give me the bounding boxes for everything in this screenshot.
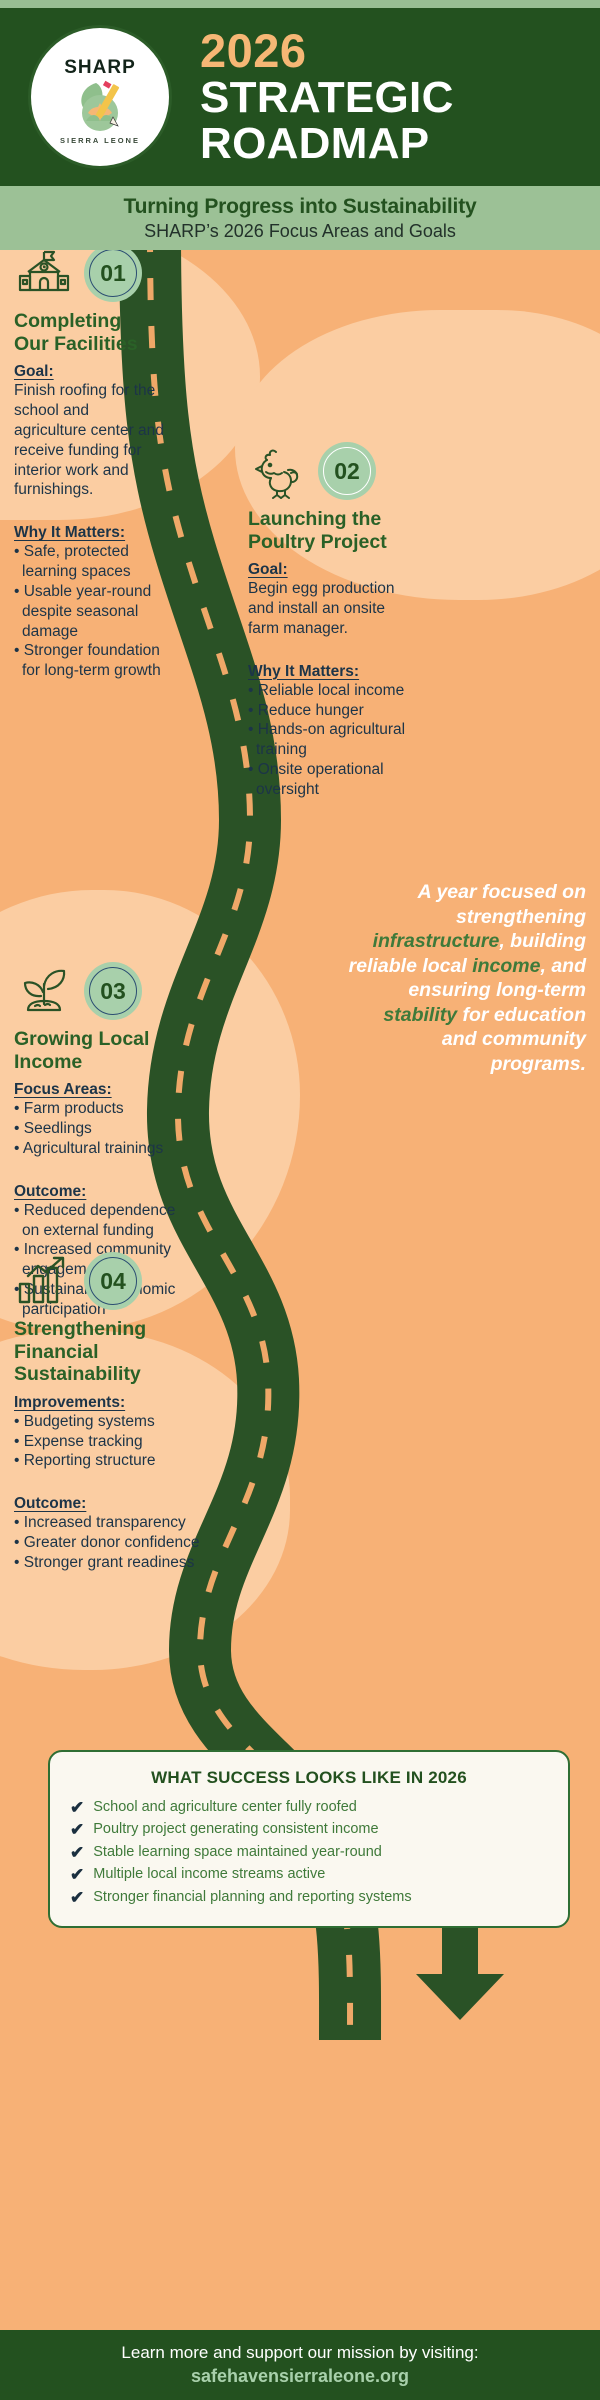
- success-heading: WHAT SUCCESS LOOKS LIKE IN 2026: [70, 1768, 548, 1788]
- check-icon: ✔: [70, 1821, 84, 1838]
- section-04-outcome-list: • Increased transparency• Greater donor …: [14, 1513, 224, 1572]
- section-02-goal-text: Begin egg production and install an onsi…: [248, 579, 408, 638]
- check-icon: ✔: [70, 1799, 84, 1816]
- success-list-item: ✔Multiple local income streams active: [70, 1863, 548, 1885]
- list-item: • Greater donor confidence: [14, 1533, 224, 1553]
- section-02-number-badge: 02: [318, 442, 376, 500]
- top-accent-strip: [0, 0, 600, 8]
- footer: Learn more and support our mission by vi…: [0, 2330, 600, 2400]
- success-item-text: Stable learning space maintained year-ro…: [93, 1841, 382, 1863]
- section-01-goal-text: Finish roofing for the school and agricu…: [14, 381, 164, 500]
- subtitle-line2: SHARP’s 2026 Focus Areas and Goals: [144, 221, 456, 242]
- header: SHARP SIERRA LEONE: [0, 8, 600, 186]
- section-01-number-badge: 01: [84, 250, 142, 302]
- list-item: • Onsite operational oversight: [248, 760, 408, 800]
- section-04-improvements-label: Improvements:: [14, 1394, 125, 1412]
- section-title-line: Our Facilities: [14, 333, 164, 356]
- seedling-icon: [14, 960, 74, 1020]
- section-03-title: Growing LocalIncome: [14, 1028, 194, 1073]
- quote-highlight: infrastructure: [373, 930, 500, 952]
- check-icon: ✔: [70, 1889, 84, 1906]
- success-list-item: ✔Poultry project generating consistent i…: [70, 1818, 548, 1840]
- header-title-line2: ROADMAP: [200, 121, 582, 167]
- list-item: • Expense tracking: [14, 1432, 224, 1452]
- success-box: WHAT SUCCESS LOOKS LIKE IN 2026 ✔School …: [48, 1750, 570, 1928]
- list-item: • Agricultural trainings: [14, 1139, 194, 1159]
- section-01-why-list: • Safe, protected learning spaces• Usabl…: [14, 542, 164, 681]
- quote-text: for education and community programs.: [442, 1004, 586, 1075]
- highlight-quote: A year focused on strengthening infrastr…: [348, 880, 586, 1077]
- success-list-item: ✔School and agriculture center fully roo…: [70, 1796, 548, 1818]
- success-list-item: ✔Stable learning space maintained year-r…: [70, 1841, 548, 1863]
- section-02-number: 02: [334, 458, 360, 485]
- success-item-text: Stronger financial planning and reportin…: [93, 1886, 411, 1908]
- section-03-head: 03: [14, 960, 194, 1020]
- school-icon: [14, 250, 74, 302]
- success-list-item: ✔Stronger financial planning and reporti…: [70, 1886, 548, 1908]
- section-02-head: 02: [248, 440, 408, 500]
- section-02-why-list: • Reliable local income• Reduce hunger• …: [248, 681, 408, 800]
- section-02-goal-label: Goal:: [248, 561, 288, 579]
- section-04-improvements-list: • Budgeting systems• Expense tracking• R…: [14, 1412, 224, 1471]
- section-03-number: 03: [100, 978, 126, 1005]
- quote-highlight: income: [472, 955, 540, 977]
- section-01-why-label: Why It Matters:: [14, 524, 125, 542]
- footer-cta-text: Learn more and support our mission by vi…: [121, 2343, 478, 2363]
- list-item: • Increased transparency: [14, 1513, 224, 1533]
- list-item: • Reporting structure: [14, 1451, 224, 1471]
- section-03-focus-label: Focus Areas:: [14, 1081, 112, 1099]
- list-item: • Safe, protected learning spaces: [14, 542, 164, 582]
- section-04-outcome-label: Outcome:: [14, 1495, 86, 1513]
- list-item: • Farm products: [14, 1099, 194, 1119]
- section-title-line: Growing Local: [14, 1028, 194, 1051]
- logo-subtext: SIERRA LEONE: [60, 136, 140, 145]
- section-title-line: Launching the: [248, 508, 408, 531]
- section-title-line: Income: [14, 1051, 194, 1074]
- subtitle-band: Turning Progress into Sustainability SHA…: [0, 186, 600, 250]
- growth-chart-icon: [14, 1250, 74, 1310]
- list-item: • Stronger foundation for long-term grow…: [14, 641, 164, 681]
- section-01-title: CompletingOur Facilities: [14, 310, 164, 355]
- section-03-outcome-label: Outcome:: [14, 1183, 86, 1201]
- chicken-icon: [248, 440, 308, 500]
- list-item: • Budgeting systems: [14, 1412, 224, 1432]
- list-item: • Reliable local income: [248, 681, 408, 701]
- footer-website-link[interactable]: safehavensierraleone.org: [191, 2366, 409, 2387]
- section-title-line: Sustainability: [14, 1363, 224, 1386]
- infographic-poster: SHARP SIERRA LEONE: [0, 0, 600, 2400]
- logo-wordmark: SHARP: [64, 57, 136, 79]
- success-item-text: School and agriculture center fully roof…: [93, 1796, 357, 1818]
- section-03-number-badge: 03: [84, 962, 142, 1020]
- section-03-focus-list: • Farm products• Seedlings• Agricultural…: [14, 1099, 194, 1158]
- subtitle-line1: Turning Progress into Sustainability: [124, 195, 477, 219]
- quote-highlight: stability: [383, 1004, 457, 1026]
- section-04-head: 04: [14, 1250, 224, 1310]
- success-item-text: Multiple local income streams active: [93, 1863, 325, 1885]
- list-item: • Reduce hunger: [248, 701, 408, 721]
- section-04-title: Strengthening FinancialSustainability: [14, 1318, 224, 1386]
- section-01-goal-label: Goal:: [14, 363, 54, 381]
- section-01-number: 01: [100, 260, 126, 287]
- section-02-why-label: Why It Matters:: [248, 663, 359, 681]
- header-title-line1: STRATEGIC: [200, 75, 582, 121]
- check-icon: ✔: [70, 1866, 84, 1883]
- sharp-logo: SHARP SIERRA LEONE: [31, 28, 169, 166]
- down-arrow-icon: [400, 1922, 520, 2022]
- list-item: • Reduced dependence on external funding: [14, 1201, 194, 1241]
- section-02-title: Launching thePoultry Project: [248, 508, 408, 553]
- section-title-line: Poultry Project: [248, 531, 408, 554]
- list-item: • Hands-on agricultural training: [248, 720, 408, 760]
- header-year: 2026: [200, 27, 582, 75]
- section-04: 04 Strengthening FinancialSustainability…: [14, 1250, 224, 1573]
- list-item: • Seedlings: [14, 1119, 194, 1139]
- leaf-pencil-sun-icon: [66, 77, 134, 135]
- list-item: • Usable year-round despite seasonal dam…: [14, 582, 164, 641]
- section-01: 01 CompletingOur Facilities Goal: Finish…: [14, 250, 164, 681]
- logo-container: SHARP SIERRA LEONE: [0, 28, 200, 166]
- section-01-head: 01: [14, 250, 164, 302]
- check-icon: ✔: [70, 1844, 84, 1861]
- section-02: 02 Launching thePoultry Project Goal: Be…: [248, 440, 408, 800]
- quote-text: A year focused on strengthening: [418, 881, 586, 928]
- section-title-line: Strengthening Financial: [14, 1318, 224, 1363]
- success-item-text: Poultry project generating consistent in…: [93, 1818, 378, 1840]
- header-title-group: 2026 STRATEGIC ROADMAP: [200, 27, 600, 166]
- section-04-number: 04: [100, 1268, 126, 1295]
- success-list: ✔School and agriculture center fully roo…: [70, 1796, 548, 1908]
- list-item: • Stronger grant readiness: [14, 1553, 224, 1573]
- section-04-number-badge: 04: [84, 1252, 142, 1310]
- section-title-line: Completing: [14, 310, 164, 333]
- body-canvas: 01 CompletingOur Facilities Goal: Finish…: [0, 250, 600, 2330]
